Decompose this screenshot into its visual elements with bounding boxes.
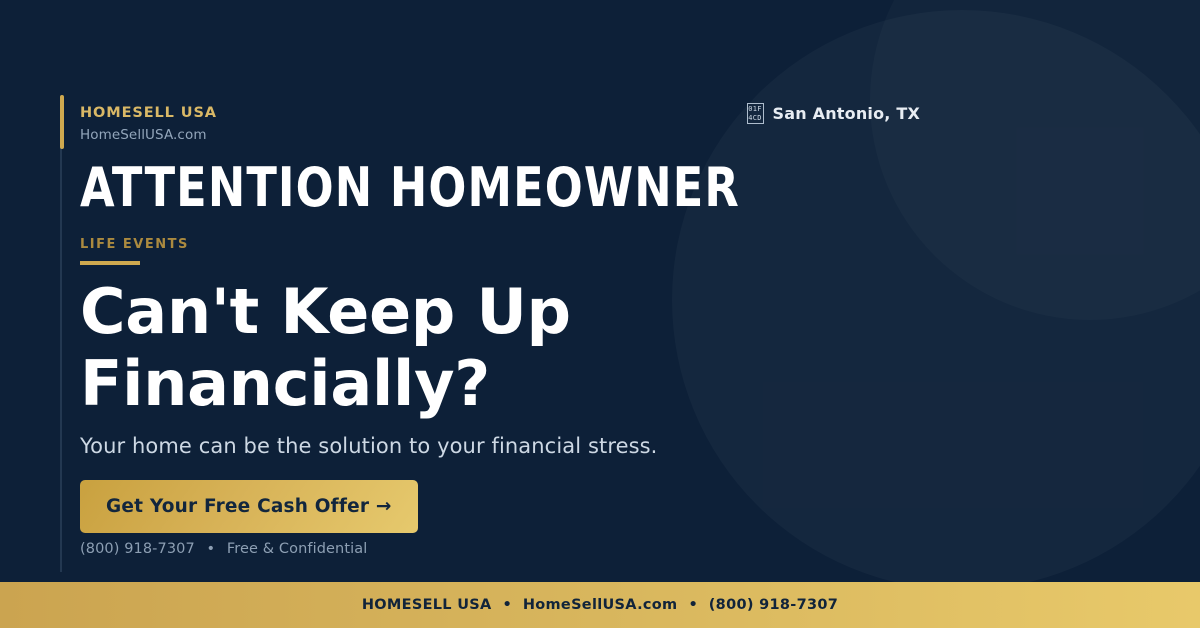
microcopy-separator: • bbox=[207, 541, 216, 557]
kicker-label: LIFE EVENTS bbox=[80, 237, 189, 252]
brand-website: HomeSellUSA.com bbox=[80, 127, 217, 143]
contact-phone[interactable]: (800) 918-7307 bbox=[80, 541, 195, 557]
kicker-block: LIFE EVENTS bbox=[80, 237, 189, 265]
pin-icon-codepoint-bottom: 4CD bbox=[748, 114, 762, 123]
footer-bar: HOMESELL USA • HomeSellUSA.com • (800) 9… bbox=[0, 582, 1200, 628]
subheadline: Your home can be the solution to your fi… bbox=[80, 434, 657, 458]
contact-microcopy: (800) 918-7307 • Free & Confidential bbox=[80, 541, 367, 557]
location-label: San Antonio, TX bbox=[773, 104, 920, 123]
attention-headline: ATTENTION HOMEOWNER bbox=[80, 160, 740, 216]
vertical-rule bbox=[60, 148, 62, 572]
banner-content: HOMESELL USA HomeSellUSA.com 01F 4CD San… bbox=[80, 0, 980, 582]
promo-banner: HOMESELL USA HomeSellUSA.com 01F 4CD San… bbox=[0, 0, 1200, 628]
footer-website[interactable]: HomeSellUSA.com bbox=[523, 597, 678, 613]
footer-separator-one: • bbox=[503, 597, 512, 613]
get-free-cash-offer-button[interactable]: Get Your Free Cash Offer → bbox=[80, 480, 418, 533]
brand-name: HOMESELL USA bbox=[80, 104, 217, 122]
location-badge: 01F 4CD San Antonio, TX bbox=[747, 103, 920, 124]
gold-accent-bar bbox=[60, 95, 64, 149]
footer-phone[interactable]: (800) 918-7307 bbox=[709, 597, 838, 613]
footer-brand: HOMESELL USA bbox=[362, 597, 492, 613]
footer-separator-two: • bbox=[688, 597, 697, 613]
assurance-text: Free & Confidential bbox=[227, 541, 367, 557]
brand-block: HOMESELL USA HomeSellUSA.com bbox=[80, 104, 217, 143]
kicker-underline bbox=[80, 261, 140, 265]
pin-icon: 01F 4CD bbox=[747, 103, 764, 124]
page-title: Can't Keep Up Financially? bbox=[80, 276, 760, 420]
pin-icon-codepoint-top: 01F bbox=[748, 105, 762, 114]
